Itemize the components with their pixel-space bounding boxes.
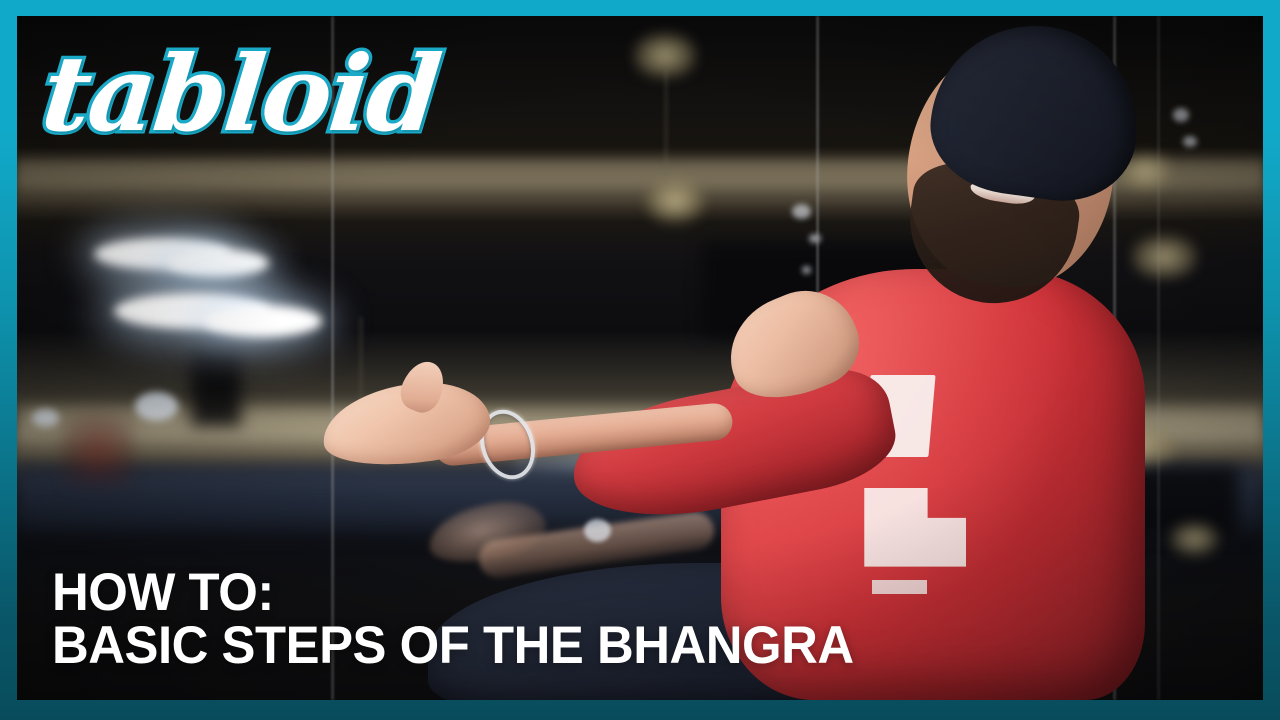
mirrored-watch-reflection	[584, 519, 611, 542]
title-line-2: BASIC STEPS OF THE BHANGRA	[52, 620, 854, 672]
title-line-1: HOW TO:	[52, 567, 854, 619]
video-thumbnail: tabloid HOW TO: BASIC STEPS OF THE BHANG…	[0, 0, 1280, 720]
title-block: HOW TO: BASIC STEPS OF THE BHANGRA	[52, 567, 887, 672]
tabloid-logo: tabloid	[38, 42, 444, 146]
